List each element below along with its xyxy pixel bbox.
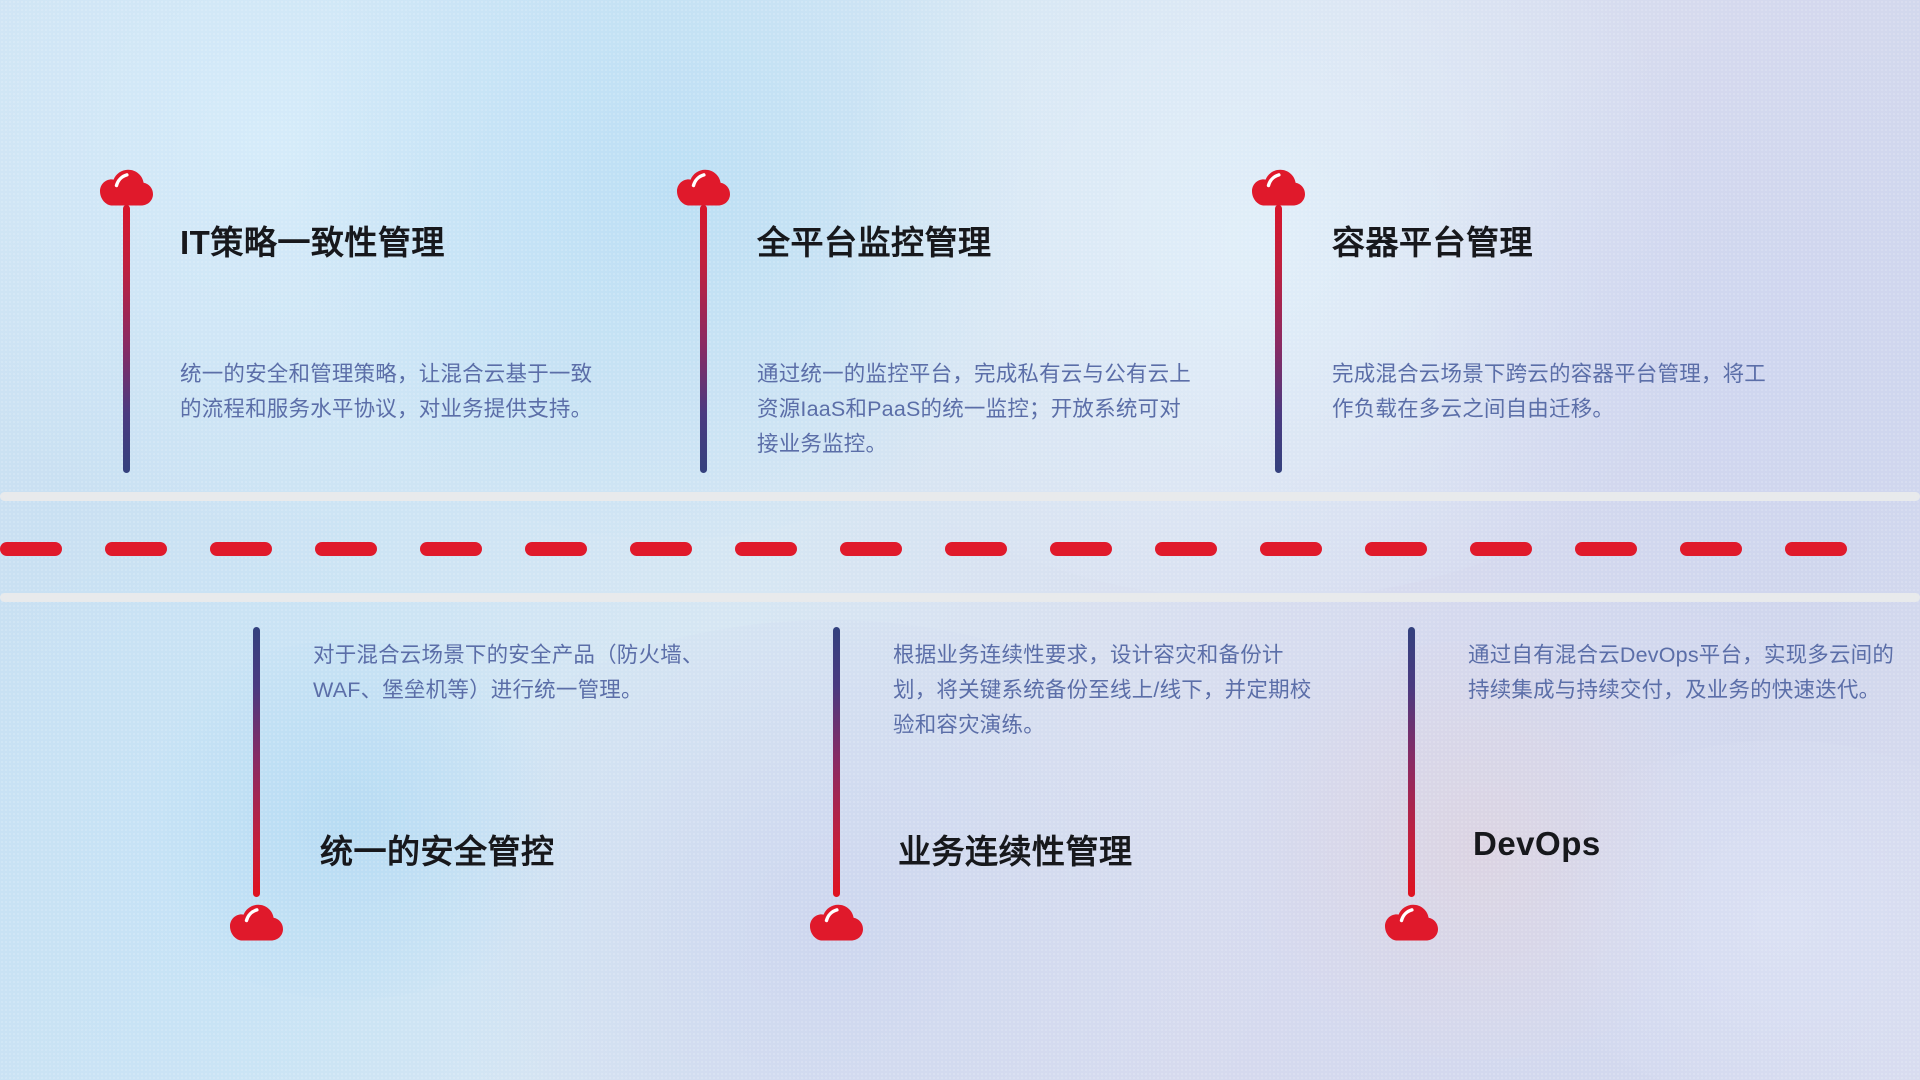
- panel-description: 完成混合云场景下跨云的容器平台管理，将工作负载在多云之间自由迁移。: [1332, 357, 1772, 427]
- connector-stem: [253, 627, 260, 897]
- road-dash: [420, 542, 482, 556]
- road-dash: [105, 542, 167, 556]
- panel-title: IT策略一致性管理: [180, 216, 445, 264]
- road-edge-line: [0, 492, 1920, 501]
- panel-title: 统一的安全管控: [320, 825, 555, 873]
- road-dash: [1680, 542, 1742, 556]
- panel-title: 容器平台管理: [1332, 216, 1533, 264]
- panel-description: 对于混合云场景下的安全产品（防火墙、WAF、堡垒机等）进行统一管理。: [313, 638, 733, 708]
- road-dash: [1260, 542, 1322, 556]
- road-dash: [0, 542, 62, 556]
- panel-description: 统一的安全和管理策略，让混合云基于一致的流程和服务水平协议，对业务提供支持。: [180, 357, 612, 427]
- road-dash: [1155, 542, 1217, 556]
- cloud-icon: [95, 160, 159, 208]
- panel-title: DevOps: [1473, 825, 1601, 863]
- background-blob: [760, 0, 1760, 600]
- panel-description: 根据业务连续性要求，设计容灾和备份计划，将关键系统备份至线上/线下，并定期校验和…: [893, 638, 1323, 743]
- cloud-icon: [1380, 895, 1444, 943]
- cloud-icon: [225, 895, 289, 943]
- road-dash: [840, 542, 902, 556]
- panel-title: 业务连续性管理: [898, 825, 1133, 873]
- road-dash: [945, 542, 1007, 556]
- road-dash: [1470, 542, 1532, 556]
- road-dash: [1365, 542, 1427, 556]
- connector-stem: [833, 627, 840, 897]
- panel-description: 通过统一的监控平台，完成私有云与公有云上资源IaaS和PaaS的统一监控；开放系…: [757, 357, 1197, 462]
- infographic-canvas: IT策略一致性管理 统一的安全和管理策略，让混合云基于一致的流程和服务水平协议，…: [0, 0, 1920, 1080]
- connector-stem: [123, 205, 130, 473]
- road-dash: [525, 542, 587, 556]
- cloud-icon: [1247, 160, 1311, 208]
- connector-stem: [1275, 205, 1282, 473]
- connector-stem: [1408, 627, 1415, 897]
- background-blob: [1520, 740, 1920, 1080]
- road-dash: [630, 542, 692, 556]
- cloud-icon: [805, 895, 869, 943]
- panel-description: 通过自有混合云DevOps平台，实现多云间的持续集成与持续交付，及业务的快速迭代…: [1468, 638, 1898, 708]
- road-dash: [210, 542, 272, 556]
- cloud-icon: [672, 160, 736, 208]
- road-dash: [735, 542, 797, 556]
- connector-stem: [700, 205, 707, 473]
- road-dash: [1575, 542, 1637, 556]
- road-dash: [315, 542, 377, 556]
- road-dash: [1050, 542, 1112, 556]
- road-dash: [1785, 542, 1847, 556]
- panel-title: 全平台监控管理: [757, 216, 992, 264]
- road-edge-line: [0, 593, 1920, 602]
- road-dash-line: [0, 542, 1920, 556]
